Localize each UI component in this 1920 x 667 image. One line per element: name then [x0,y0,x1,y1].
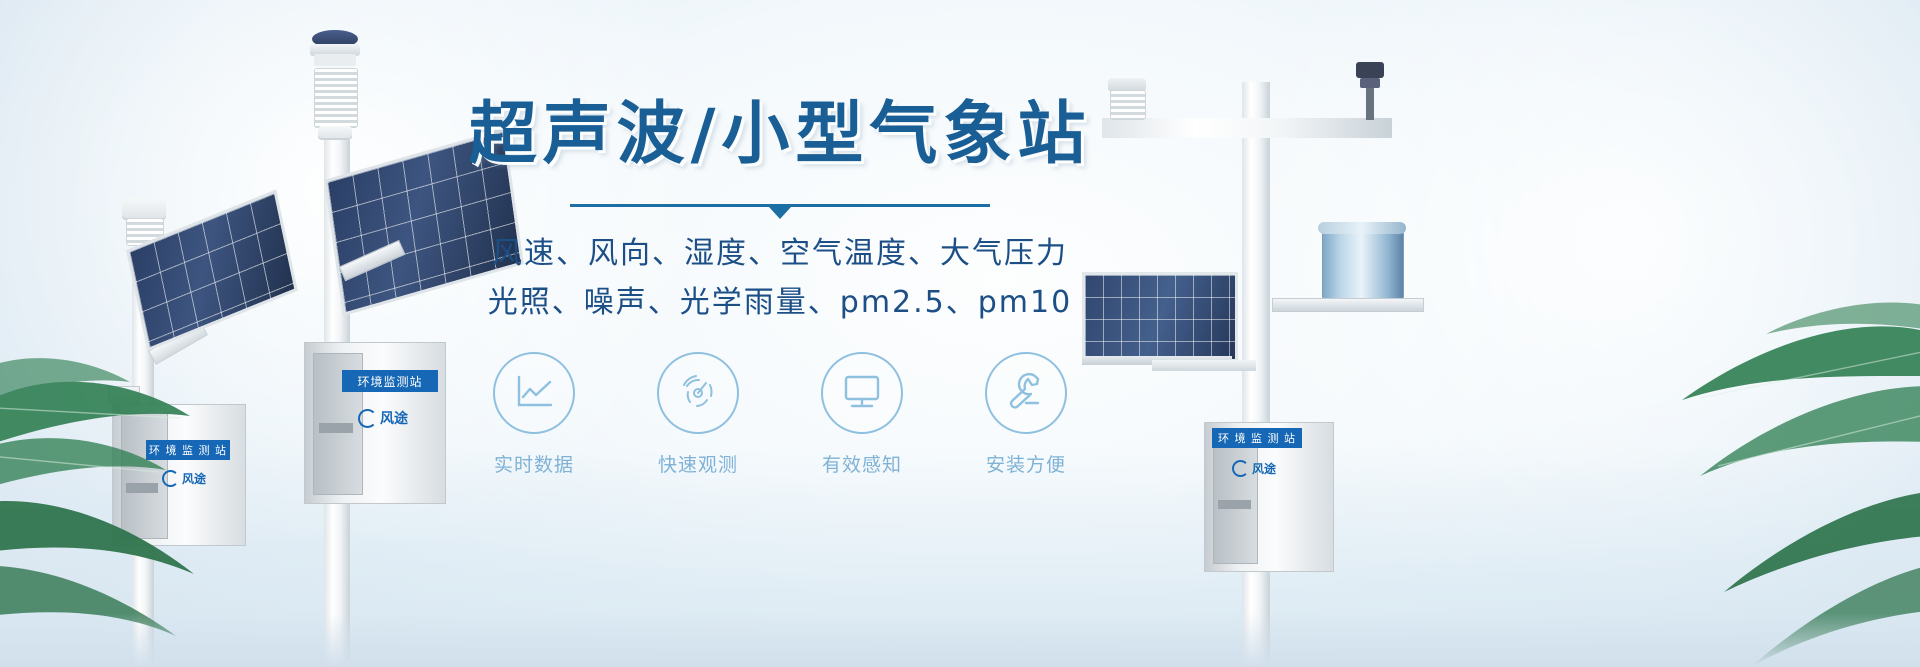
cabinet-vent [319,423,353,433]
monitor-icon-circle [821,352,903,434]
cabinet-name-tag: 环 境 监 测 站 [1212,428,1302,448]
monitor-icon [840,373,884,413]
banner-copy-block: 超声波/小型气象站 风速、风向、湿度、空气温度、大气压力 光照、噪声、光学雨量、… [440,96,1120,327]
brand-text: 风途 [380,408,408,428]
weather-station-crossarm-right: 环 境 监 测 站 风途 [1060,60,1680,667]
cross-arm [1102,118,1392,138]
line-chart-icon-circle [493,352,575,434]
brand-mark-icon [358,409,377,428]
wrench-icon [1004,372,1048,414]
product-banner: 环 境 监 测 站 风途 环境监测站 风途 [0,0,1920,667]
wind-vane-icon [1356,62,1384,78]
mast-pole [1242,82,1270,667]
ground-gradient [0,613,1920,667]
radar-signal-icon-circle [657,352,739,434]
radar-signal-icon [677,372,719,414]
radiation-shield-icon [122,198,166,220]
title-divider [570,200,990,218]
shield-base [318,126,352,140]
subtitle-line-2: 光照、噪声、光学雨量、pm2.5、pm10 [440,279,1120,328]
panel-arm [1152,360,1256,371]
feature-label: 实时数据 [473,450,595,477]
brand-text: 风途 [1252,460,1276,477]
feature-item-fast-observation[interactable]: 快速观测 [637,352,759,477]
subtitle-line-1: 风速、风向、湿度、空气温度、大气压力 [440,230,1120,279]
brand-label: 风途 [1232,460,1276,477]
feature-item-easy-installation[interactable]: 安装方便 [965,352,1087,477]
page-title: 超声波/小型气象站 [440,96,1120,174]
rain-gauge-icon [1322,228,1404,302]
divider-triangle-icon [769,207,791,219]
feature-label: 快速观测 [637,450,759,477]
rain-gauge-rim [1318,222,1406,234]
feature-item-realtime-data[interactable]: 实时数据 [473,352,595,477]
sensor-shelf [1272,298,1424,312]
feature-label: 安装方便 [965,450,1087,477]
feature-list: 实时数据 快速观测 [440,352,1120,477]
cabinet-door [1213,432,1259,564]
feature-label: 有效感知 [801,450,923,477]
radiation-shield-icon [314,68,358,128]
wrench-icon-circle [985,352,1067,434]
sensor-collar [314,54,356,66]
cabinet-vent [1218,500,1251,509]
cabinet-name-tag: 环境监测站 [342,370,438,392]
line-chart-icon [513,373,555,413]
brand-label: 风途 [358,408,408,428]
anemometer-cup-icon [1360,78,1380,88]
brand-mark-icon [1232,460,1249,477]
feature-item-effective-sensing[interactable]: 有效感知 [801,352,923,477]
